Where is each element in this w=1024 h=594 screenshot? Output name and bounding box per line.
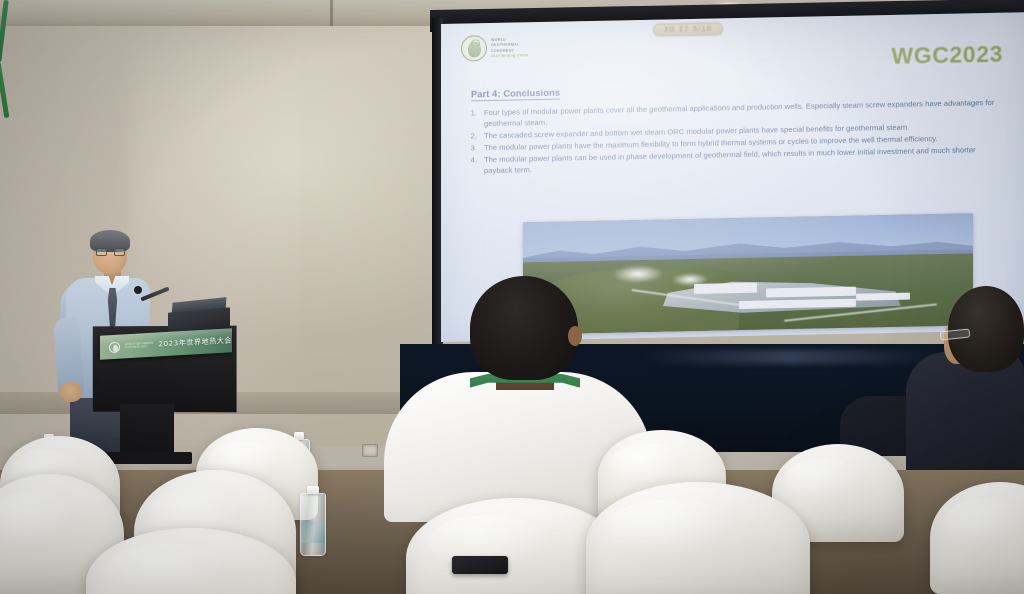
water-bottle[interactable] <box>300 486 326 556</box>
bottle-cap <box>307 486 319 494</box>
covered-chair[interactable] <box>586 482 810 594</box>
bullet-number: 1. <box>467 107 477 118</box>
photo-building <box>856 293 910 301</box>
slide-photo-geothermal-plant <box>523 213 973 334</box>
attendee-right-body <box>906 352 1024 482</box>
attendee-front-head <box>470 276 578 380</box>
conference-room-scene: WORLD GEOTHERMAL CONGRESS 2023 Beijing C… <box>0 0 1024 594</box>
wall-power-outlet[interactable] <box>362 444 378 457</box>
glasses-lens-left <box>96 248 107 256</box>
logo-line-1: WORLD <box>491 37 528 42</box>
logo-line-2: GEOTHERMAL <box>491 42 528 47</box>
photo-building <box>766 286 856 297</box>
bottle-label <box>301 522 325 543</box>
attendee-front-ear <box>568 326 582 346</box>
slide-heading-text: Part 4: Conclusions <box>471 88 560 102</box>
bullet-number: 2. <box>467 130 477 141</box>
podium-sign-text: 2023年世界地热大会 <box>159 335 232 349</box>
podium-foot <box>104 452 192 464</box>
bullet-number: 3. <box>467 142 477 153</box>
speaker-hand <box>60 382 82 402</box>
podium-sign-sub-2: CONGRESS 2023 <box>125 345 154 350</box>
slide-bullet-list: 1. Four types of modular power plants co… <box>467 97 995 177</box>
smartphone[interactable] <box>452 556 508 574</box>
wgc-congress-logo: WORLD GEOTHERMAL CONGRESS 2023 Beijing C… <box>461 32 553 64</box>
podium-logo-icon <box>109 341 120 353</box>
slide-brand-title: WGC2023 <box>891 41 1003 70</box>
projector-osd-badge: 3D 27 5/10 <box>653 22 723 36</box>
glasses-lens-right <box>114 248 125 256</box>
microphone-head-icon <box>134 286 142 294</box>
speaker-glasses <box>96 248 126 256</box>
podium-sign-sub-1: WORLD GEOTHERMAL <box>125 342 154 347</box>
logo-line-4: 2023 Beijing China <box>491 53 528 58</box>
bullet-number: 4. <box>467 154 477 165</box>
photo-building <box>694 283 757 294</box>
slide-heading: Part 4: Conclusions <box>471 88 560 100</box>
geothermal-logo-icon <box>461 35 487 62</box>
logo-line-3: CONGRESS <box>491 48 528 53</box>
backdrop-reflection <box>640 350 940 364</box>
